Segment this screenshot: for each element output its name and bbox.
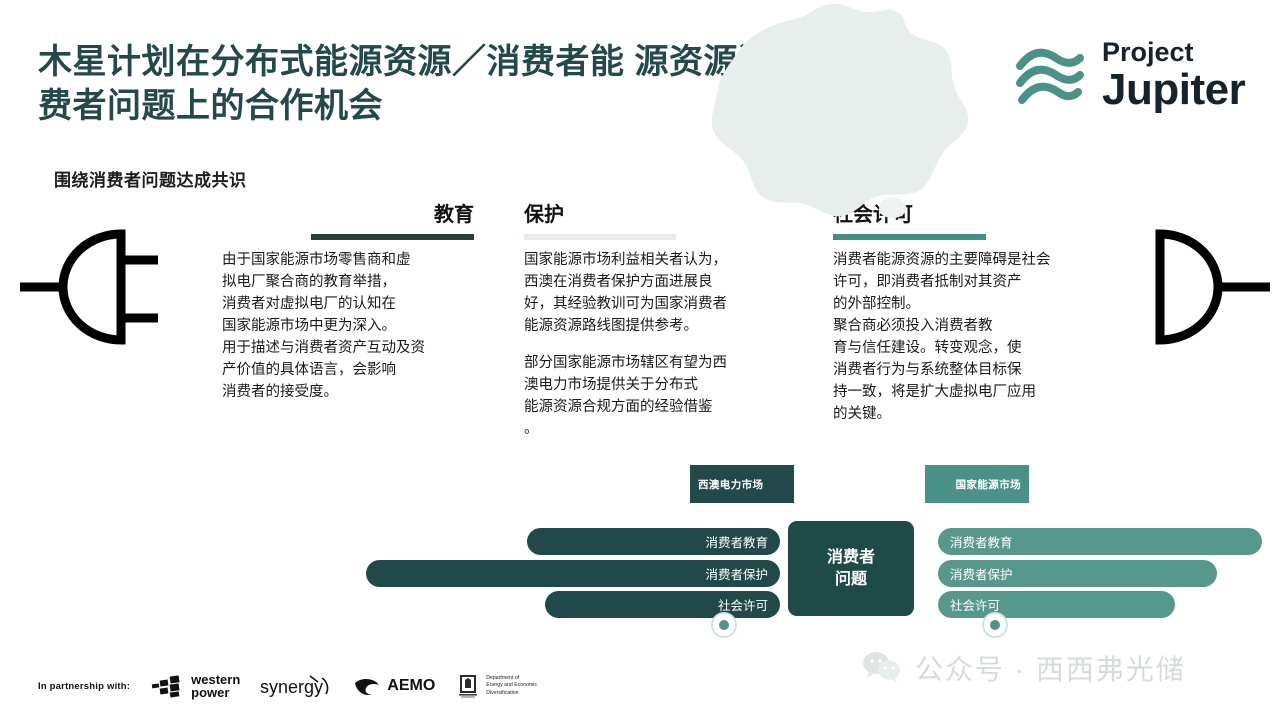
partner-name-department: Department of Energy and Economic Divers… [486,675,537,698]
bar-left-protection: 消费者保护 [366,560,780,587]
synergy-mark-icon: synergy [260,674,332,698]
partner-logo-department: Department of Energy and Economic Divers… [455,672,537,700]
column-rule [311,234,474,240]
partner-logo-synergy: synergy [260,674,332,698]
legend-wa-market: 西澳电力市场 [690,465,794,503]
legend-nem-market: 国家能源市场 [925,465,1029,503]
bar-right-social-licence: 社会许可 [938,591,1175,618]
wave-mark-icon [1010,38,1088,112]
australia-map-silhouette-icon [620,0,1020,230]
column-rule [524,234,676,240]
power-plug-icon [1148,222,1280,352]
wechat-icon [862,651,902,685]
bar-left-social-licence: 社会许可 [545,591,780,618]
partner-name-aemo: AEMO [387,678,435,694]
section-subtitle: 围绕消费者问题达成共识 [54,166,247,191]
logo-line-1: Project [1102,39,1245,66]
watermark-text: 公众号 · 西西弗光储 [915,648,1186,688]
wechat-watermark: 公众号 · 西西弗光储 [862,648,1186,688]
column-education: 教育 由于国家能源市场零售商和虚 拟电厂聚合商的教育举措， 消费者对虚拟电厂的认… [222,204,474,403]
column-social-licence: 社会许可 消费者能源资源的主要障碍是社会 许可，即消费者抵制对其资产 的外部控制… [833,204,1085,425]
map-pin-right-icon [982,612,1008,638]
project-jupiter-logo: Project Jupiter [1010,38,1245,112]
column-paragraph: 国家能源市场利益相关者认为， 西澳在消费者保护方面进展良 好，其经验教训可为国家… [524,249,776,337]
svg-text:synergy: synergy [260,677,323,697]
partner-label: In partnership with: [38,681,130,692]
aemo-mark-icon [352,674,382,698]
partner-name-western-power: western power [191,673,240,699]
center-node-line-1: 消费者 [827,547,875,569]
center-node-line-2: 问题 [835,569,867,591]
column-paragraph: 由于国家能源市场零售商和虚 拟电厂聚合商的教育举措， 消费者对虚拟电厂的认知在 … [222,249,474,403]
power-plug-icon [8,222,178,352]
footer-partners: In partnership with: western power syner [38,672,537,700]
slide: 木星计划在分布式能源资源／消费者能 源资源消费者问题上的合作机会 Project… [0,0,1280,720]
center-node-consumer-issues: 消费者 问题 [788,521,914,616]
column-paragraph: 部分国家能源市场辖区有望为西 澳电力市场提供关于分布式 能源资源合规方面的经验借… [524,352,776,440]
partner-logo-aemo: AEMO [352,674,435,698]
column-heading: 教育 [222,204,474,226]
bar-left-education: 消费者教育 [527,528,780,555]
wa-government-crest-icon [455,672,481,700]
column-rule [833,234,986,240]
bar-right-protection: 消费者保护 [938,560,1217,587]
map-pin-left-icon [711,612,737,638]
column-paragraph: 消费者能源资源的主要障碍是社会 许可，即消费者抵制对其资产 的外部控制。 聚合商… [833,249,1085,425]
bar-right-education: 消费者教育 [938,528,1262,555]
partner-logo-western-power: western power [150,673,240,699]
column-protection: 保护 国家能源市场利益相关者认为， 西澳在消费者保护方面进展良 好，其经验教训可… [524,204,776,440]
logo-line-2: Jupiter [1102,68,1245,112]
western-power-mark-icon [150,673,186,699]
